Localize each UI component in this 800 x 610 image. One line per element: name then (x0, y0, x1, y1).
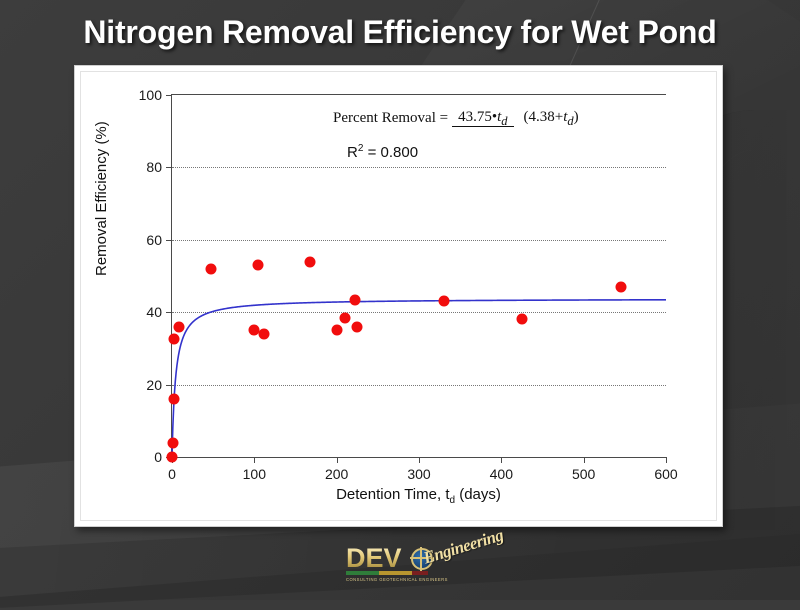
logo-wordmark: DEV (346, 543, 402, 574)
equation-fraction: 43.75•td (4.38+td) (452, 108, 585, 129)
data-point (205, 263, 216, 274)
x-axis-tick-label: 400 (490, 466, 513, 482)
data-point (167, 437, 178, 448)
y-axis-tick-label: 80 (146, 159, 162, 175)
equation-numerator: 43.75•td (452, 109, 513, 127)
y-axis-tick-label: 20 (146, 377, 162, 393)
logo-color-bar (346, 571, 362, 575)
x-axis-tick (584, 457, 585, 463)
data-point (167, 452, 178, 463)
r-squared-label: R (347, 144, 358, 161)
data-point (259, 328, 270, 339)
equation-denominator-constant: 4.38 (529, 109, 555, 125)
x-axis-tick (337, 457, 338, 463)
r-squared-value: = 0.800 (368, 144, 418, 161)
chart-panel: Removal Efficiency (%) Detention Time, t… (74, 65, 723, 527)
logo-tagline: CONSULTING GEOTECHNICAL ENGINEERS (346, 577, 448, 582)
x-axis-tick-label: 500 (572, 466, 595, 482)
x-axis-label-pre: Detention Time, t (336, 486, 449, 503)
devo-engineering-logo: DEV Engineering CONSULTING GEOTECHNICAL … (338, 541, 488, 589)
x-axis-tick-label: 100 (243, 466, 266, 482)
equation-denominator: (4.38+td) (518, 108, 585, 125)
data-point (339, 312, 350, 323)
logo-color-bars (346, 571, 428, 575)
equation-numerator-coefficient: 43.75 (458, 109, 492, 125)
equation-numerator-subscript: d (501, 114, 507, 128)
y-axis-tick-label: 100 (139, 87, 162, 103)
x-axis-tick-label: 300 (407, 466, 430, 482)
page-title: Nitrogen Removal Efficiency for Wet Pond (0, 14, 800, 51)
logo-color-bar (362, 571, 378, 575)
y-axis-label: Removal Efficiency (%) (93, 121, 110, 276)
data-point (305, 256, 316, 267)
x-axis-tick-label: 0 (168, 466, 176, 482)
y-axis-tick-label: 60 (146, 232, 162, 248)
x-axis-label: Detention Time, td (days) (171, 486, 666, 506)
data-point (169, 334, 180, 345)
logo-color-bar (379, 571, 395, 575)
data-point (349, 294, 360, 305)
data-point (516, 314, 527, 325)
r-squared-annotation: R2 = 0.800 (347, 143, 613, 161)
x-axis-tick (254, 457, 255, 463)
data-point (253, 260, 264, 271)
logo-color-bar (412, 571, 428, 575)
y-axis-tick-label: 0 (154, 449, 162, 465)
equation-lhs: Percent Removal = (333, 110, 448, 127)
equation-denominator-close: ) (574, 109, 579, 125)
y-axis-tick-label: 40 (146, 304, 162, 320)
data-point (168, 394, 179, 405)
x-axis-tick (419, 457, 420, 463)
r-squared-exponent: 2 (358, 143, 364, 154)
equation-annotation: Percent Removal = 43.75•td (4.38+td) R2 … (333, 108, 613, 161)
data-point (352, 321, 363, 332)
data-point (438, 296, 449, 307)
x-axis-tick-label: 600 (654, 466, 677, 482)
chart-figure: Removal Efficiency (%) Detention Time, t… (75, 66, 724, 528)
data-point (173, 321, 184, 332)
data-point (331, 325, 342, 336)
logo-color-bar (395, 571, 411, 575)
x-axis-tick (666, 457, 667, 463)
x-axis-label-post: (days) (455, 486, 501, 503)
equation-denominator-operator: + (555, 109, 563, 125)
x-axis-tick (501, 457, 502, 463)
x-axis-tick-label: 200 (325, 466, 348, 482)
data-point (615, 281, 626, 292)
